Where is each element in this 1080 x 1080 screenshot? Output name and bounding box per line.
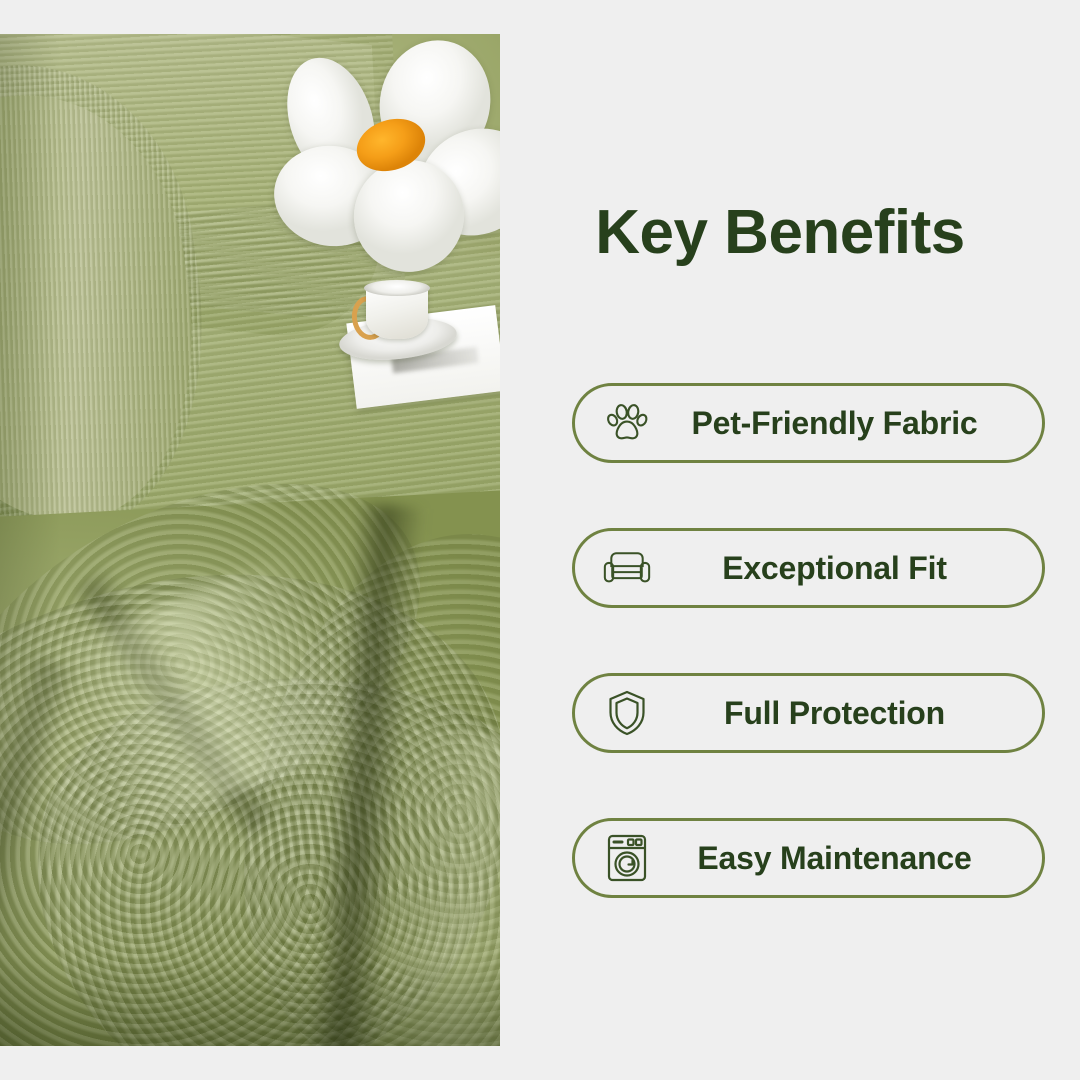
photo-edge-shadow-left: [0, 34, 60, 1046]
photo-edge-shadow-bottom: [0, 956, 500, 1046]
benefit-item-exceptional-fit[interactable]: Exceptional Fit: [572, 528, 1045, 608]
page-title: Key Benefits: [500, 199, 1060, 267]
product-photo: [0, 34, 500, 1046]
sofa-icon: [601, 542, 653, 594]
benefit-item-easy-maintenance[interactable]: Easy Maintenance: [572, 818, 1045, 898]
washing-machine-icon: [601, 832, 653, 884]
daisy-flower-pillow: [268, 38, 500, 288]
shield-icon: [601, 687, 653, 739]
benefit-item-full-protection[interactable]: Full Protection: [572, 673, 1045, 753]
teacup-rim: [364, 280, 430, 296]
page-root: Key Benefits Pet-Friendly Fabric: [0, 0, 1080, 1080]
paw-icon: [601, 397, 653, 449]
product-photo-canvas: [0, 34, 500, 1046]
benefit-item-pet-friendly-fabric[interactable]: Pet-Friendly Fabric: [572, 383, 1045, 463]
benefits-list: Pet-Friendly Fabric Exceptional Fit: [572, 383, 1045, 898]
benefits-panel: Key Benefits Pet-Friendly Fabric: [500, 0, 1080, 1080]
